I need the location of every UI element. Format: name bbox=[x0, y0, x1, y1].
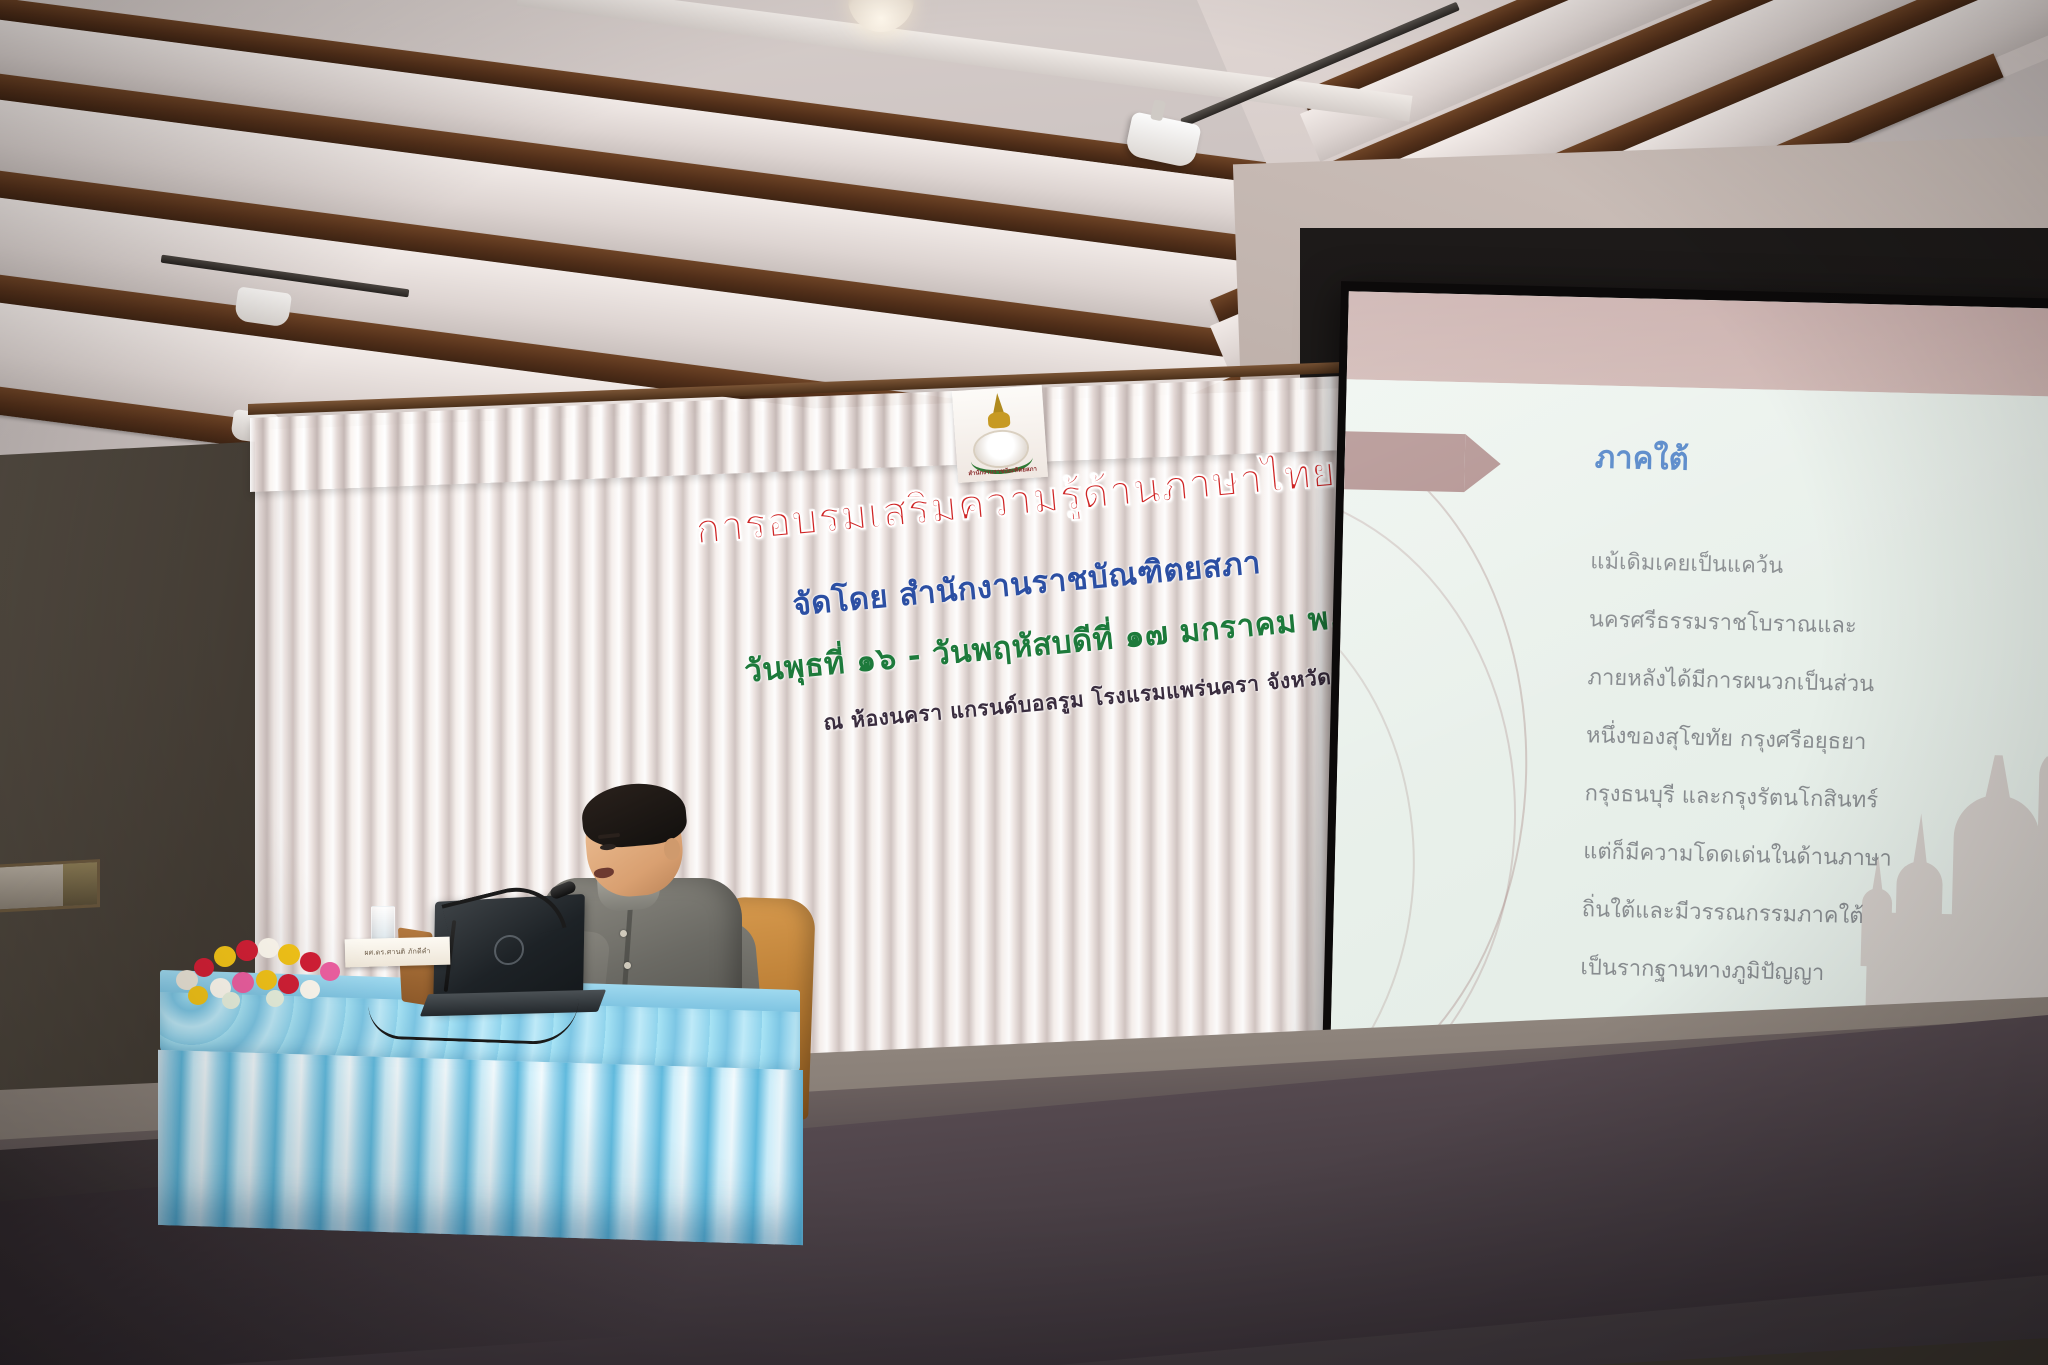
slide-line: แม้เดิมเคยเป็นแคว้น bbox=[1590, 533, 2011, 601]
ear bbox=[664, 838, 680, 860]
seminar-photo-scene: สำนักงานราชบัณฑิตยสภา การอบรมเสริมความรู… bbox=[0, 0, 2048, 1365]
stupa-shape bbox=[1861, 888, 1893, 967]
slide-title: ภาคใต้ bbox=[1594, 431, 1689, 483]
flower bbox=[320, 962, 340, 981]
flower bbox=[300, 952, 321, 972]
flower bbox=[266, 990, 284, 1007]
stupa-shape bbox=[1894, 861, 1943, 992]
slide-line: นครศรีธรรมราชโบราณและ bbox=[1588, 591, 2009, 659]
crown-base-icon bbox=[987, 411, 1010, 428]
wall-niche-opening bbox=[0, 859, 100, 913]
table-skirt bbox=[158, 1050, 803, 1245]
name-placard: ผศ.ดร.ศานติ ภักดีคำ bbox=[345, 937, 451, 968]
flower bbox=[258, 938, 279, 958]
slide-line: ภายหลังได้มีการผนวกเป็นส่วน bbox=[1587, 649, 2008, 717]
name-placard-text: ผศ.ดร.ศานติ ภักดีคำ bbox=[364, 946, 431, 959]
flower bbox=[188, 986, 208, 1005]
shirt-button bbox=[620, 930, 627, 937]
slide-body: ภาคใต้ แม้เดิมเคยเป็นแคว้น นครศรีธรรมราช… bbox=[1330, 379, 2048, 1086]
shirt-button bbox=[624, 962, 631, 969]
flower bbox=[278, 974, 299, 994]
cable bbox=[367, 992, 578, 1045]
flower bbox=[278, 944, 300, 965]
water-glass bbox=[371, 906, 395, 942]
flower bbox=[256, 970, 277, 990]
flower bbox=[236, 940, 258, 961]
stupa-shape bbox=[1949, 794, 2041, 1026]
flower bbox=[194, 958, 214, 977]
flower bbox=[300, 980, 320, 999]
slide-arrow-tab bbox=[1330, 430, 1466, 492]
flower bbox=[222, 992, 240, 1009]
flower bbox=[214, 946, 236, 967]
event-banner: การอบรมเสริมความรู้ด้านภาษาไทยแก่ครูภาษา… bbox=[690, 408, 1397, 798]
flower-arrangement bbox=[170, 928, 360, 1008]
flower bbox=[232, 972, 254, 993]
